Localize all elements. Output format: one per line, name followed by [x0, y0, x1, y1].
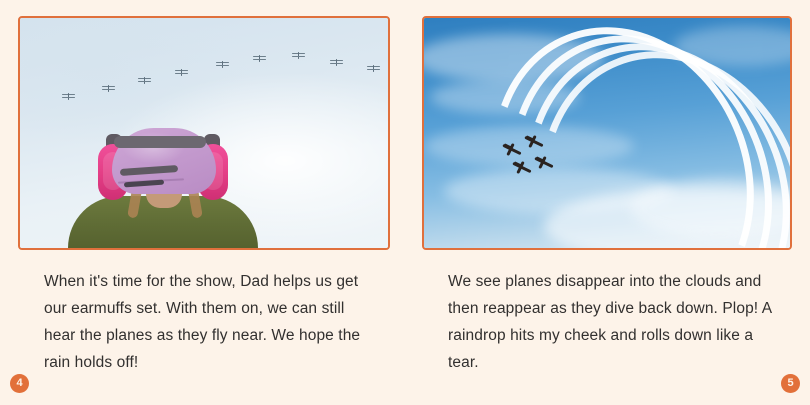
story-text-right: We see planes disappear into the clouds …	[448, 268, 778, 376]
plane-icon	[502, 143, 522, 156]
plane-icon	[534, 156, 554, 169]
plane-icon	[524, 135, 544, 148]
child-figure	[68, 120, 258, 248]
photo-frame-right	[422, 16, 792, 250]
biplane-icon	[367, 64, 380, 72]
photo-child-with-earmuffs	[20, 18, 388, 248]
biplane-icon	[138, 76, 151, 84]
biplane-icon	[330, 58, 343, 66]
story-text-left: When it's time for the show, Dad helps u…	[44, 268, 364, 376]
biplane-icon	[175, 68, 188, 76]
page-number-left: 4	[10, 374, 29, 393]
biplane-icon	[253, 54, 266, 62]
biplane-icon	[102, 84, 115, 92]
biplane-icon	[62, 92, 75, 100]
photo-planes-with-smoke-trails	[424, 18, 790, 248]
page-number-right: 5	[781, 374, 800, 393]
photo-frame-left	[18, 16, 390, 250]
book-page-spread: When it's time for the show, Dad helps u…	[0, 0, 810, 405]
story-paragraph-right: We see planes disappear into the clouds …	[448, 268, 778, 376]
biplane-icon	[216, 60, 229, 68]
earmuff-headband	[114, 136, 206, 148]
biplane-icon	[292, 51, 305, 59]
story-paragraph-left: When it's time for the show, Dad helps u…	[44, 268, 364, 376]
plane-icon	[512, 161, 532, 174]
